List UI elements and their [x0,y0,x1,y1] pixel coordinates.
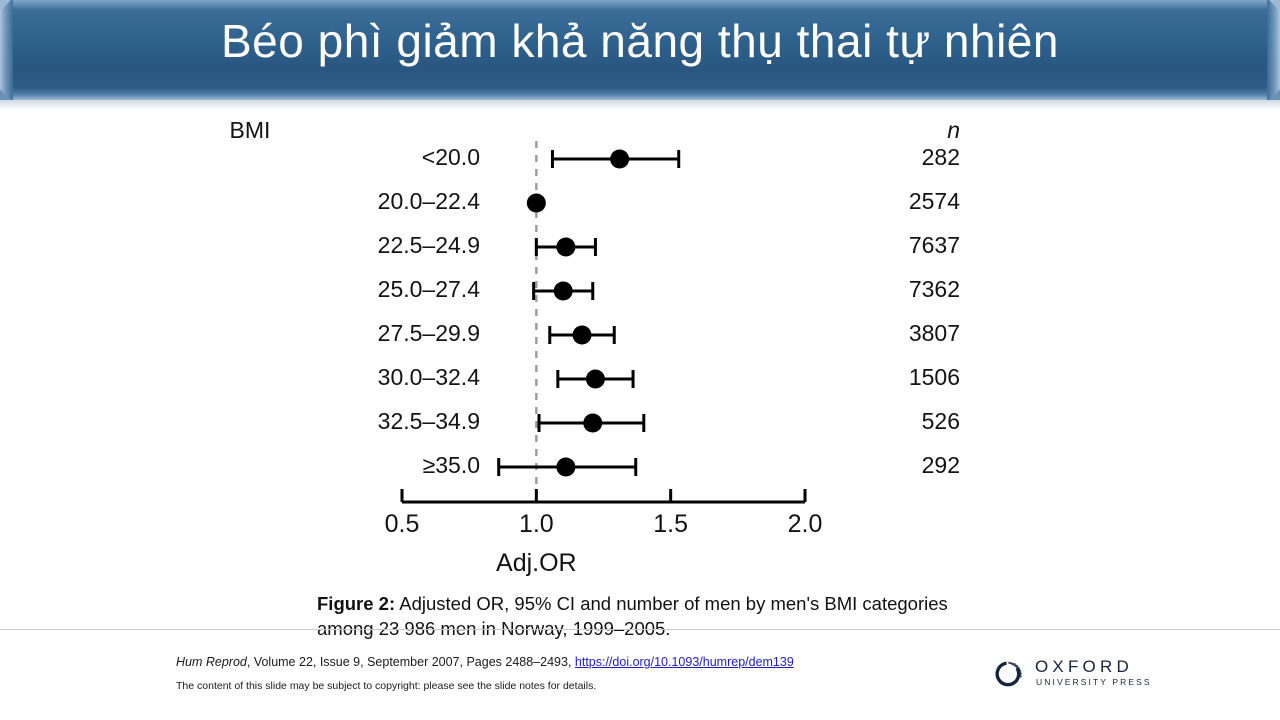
oxford-university-press-logo: OXFORD UNIVERSITY PRESS [985,655,1165,693]
oup-swirl-icon [985,655,1031,693]
column-header-n: n [840,117,960,144]
odds-ratio-point [554,282,573,301]
forest-plot-figure: BMIn<20.028220.0–22.4257422.5–24.9763725… [0,104,1280,574]
bmi-category-label: 20.0–22.4 [0,188,500,215]
citation-details: , Volume 22, Issue 9, September 2007, Pa… [247,655,575,669]
banner-corner-bottom-left [0,89,11,100]
banner-corner-top-right [1269,0,1280,11]
n-value-label: 7362 [840,276,960,303]
odds-ratio-point [573,326,592,345]
figure-caption: Figure 2: Adjusted OR, 95% CI and number… [317,591,977,641]
journal-name: Hum Reprod [176,655,247,669]
forest-row [534,282,593,301]
odds-ratio-point [527,194,546,213]
forest-row [536,238,595,257]
n-value-label: 526 [840,408,960,435]
page-title: Béo phì giảm khả năng thụ thai tự nhiên [0,14,1280,68]
bmi-category-label: 25.0–27.4 [0,276,500,303]
banner-corner-top-left [0,0,11,11]
copyright-notice: The content of this slide may be subject… [176,680,596,692]
x-axis-title: Adj.OR [386,549,686,578]
n-value-label: 3807 [840,320,960,347]
odds-ratio-point [556,238,575,257]
n-value-label: 1506 [840,364,960,391]
forest-row [550,326,614,345]
source-citation: Hum Reprod, Volume 22, Issue 9, Septembe… [176,655,794,669]
oup-subtitle: UNIVERSITY PRESS [1036,677,1152,687]
odds-ratio-point [556,458,575,477]
slide-title-banner: Béo phì giảm khả năng thụ thai tự nhiên [0,0,1280,100]
x-axis-tick-label: 1.0 [476,510,596,539]
footer-divider [0,629,1280,630]
n-value-label: 282 [840,144,960,171]
forest-row [527,194,546,213]
odds-ratio-point [586,370,605,389]
forest-row [552,150,678,169]
odds-ratio-point [610,150,629,169]
column-header-bmi: BMI [0,117,500,144]
x-axis-tick-label: 2.0 [745,510,865,539]
x-axis-tick-label: 0.5 [342,510,462,539]
forest-row [558,370,633,389]
banner-corner-bottom-right [1269,89,1280,100]
x-axis [402,489,805,502]
forest-row [499,458,636,477]
doi-link[interactable]: https://doi.org/10.1093/humrep/dem139 [575,655,794,669]
n-value-label: 2574 [840,188,960,215]
figure-caption-prefix: Figure 2: [317,593,395,614]
bmi-category-label: <20.0 [0,144,500,171]
forest-row [539,414,644,433]
n-value-label: 292 [840,452,960,479]
n-value-label: 7637 [840,232,960,259]
bmi-category-label: 27.5–29.9 [0,320,500,347]
bmi-category-label: 32.5–34.9 [0,408,500,435]
oup-wordmark: OXFORD [1035,657,1133,677]
odds-ratio-point [583,414,602,433]
bmi-category-label: 22.5–24.9 [0,232,500,259]
bmi-category-label: ≥35.0 [0,452,500,479]
x-axis-tick-label: 1.5 [611,510,731,539]
bmi-category-label: 30.0–32.4 [0,364,500,391]
figure-caption-text: Adjusted OR, 95% CI and number of men by… [317,593,948,639]
